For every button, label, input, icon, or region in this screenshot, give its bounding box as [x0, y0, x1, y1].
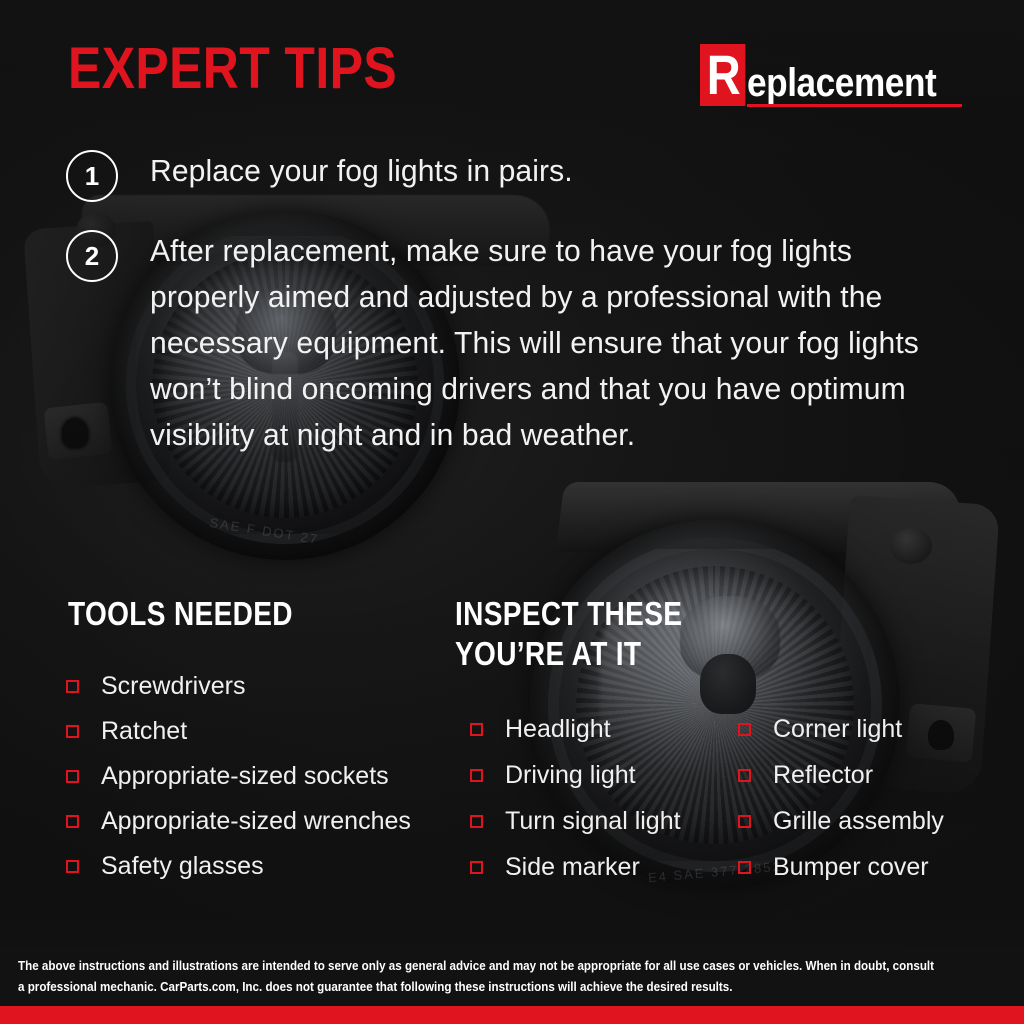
expert-tips-graphic: SAE F DOT 27 E4 SAE 377-2852 EXPERT TIPS… [0, 0, 1024, 1024]
checkbox-square-icon[interactable] [66, 815, 79, 828]
list-item-label: Side marker [505, 855, 640, 880]
brand-logo-initial: R [700, 44, 746, 106]
list-item-label: Safety glasses [101, 854, 264, 879]
list-item: Corner light [738, 706, 944, 752]
footer-disclaimer: The above instructions and illustrations… [18, 956, 937, 998]
tip-number-badge-2: 2 [66, 230, 118, 282]
checkbox-square-icon[interactable] [738, 723, 751, 736]
list-item-label: Appropriate-sized sockets [101, 764, 389, 789]
brand-logo-wordmark-wrap: eplacement [747, 63, 962, 106]
list-item: Screwdrivers [66, 664, 411, 709]
tips-list: 1 Replace your fog lights in pairs. 2 Af… [66, 148, 966, 484]
list-item: Side marker [470, 844, 681, 890]
checkbox-square-icon[interactable] [738, 861, 751, 874]
checkbox-square-icon[interactable] [66, 770, 79, 783]
list-item: Grille assembly [738, 798, 944, 844]
list-item-label: Bumper cover [773, 855, 929, 880]
list-item: Bumper cover [738, 844, 944, 890]
inspect-these-heading: INSPECT THESE YOU’RE AT IT [455, 594, 682, 674]
tip-number-badge-1: 1 [66, 150, 118, 202]
list-item: Appropriate-sized sockets [66, 754, 411, 799]
checkbox-square-icon[interactable] [738, 815, 751, 828]
brand-logo-wordmark: eplacement [747, 63, 936, 103]
list-item-label: Driving light [505, 763, 636, 788]
brand-logo-underline [747, 104, 962, 107]
inspect-list-column-left: Headlight Driving light Turn signal ligh… [470, 706, 681, 890]
inspect-list-column-right: Corner light Reflector Grille assembly B… [738, 706, 944, 890]
tools-needed-list: Screwdrivers Ratchet Appropriate-sized s… [66, 664, 411, 889]
list-item-label: Ratchet [101, 719, 187, 744]
list-item-label: Grille assembly [773, 809, 944, 834]
bottom-accent-stripe [0, 1006, 1024, 1024]
list-item-label: Turn signal light [505, 809, 681, 834]
tip-item-2: 2 After replacement, make sure to have y… [66, 228, 966, 458]
list-item-label: Reflector [773, 763, 873, 788]
list-item: Driving light [470, 752, 681, 798]
list-item: Turn signal light [470, 798, 681, 844]
checkbox-square-icon[interactable] [470, 769, 483, 782]
tip-item-1: 1 Replace your fog lights in pairs. [66, 148, 966, 202]
list-item-label: Corner light [773, 717, 902, 742]
checkbox-square-icon[interactable] [470, 815, 483, 828]
checkbox-square-icon[interactable] [470, 861, 483, 874]
list-item-label: Headlight [505, 717, 611, 742]
tip-text-1: Replace your fog lights in pairs. [150, 148, 573, 194]
content-layer: EXPERT TIPS R eplacement 1 Replace your … [0, 0, 1024, 1024]
tip-text-2: After replacement, make sure to have you… [150, 228, 942, 458]
page-title: EXPERT TIPS [68, 40, 397, 98]
checkbox-square-icon[interactable] [66, 725, 79, 738]
checkbox-square-icon[interactable] [470, 723, 483, 736]
list-item: Reflector [738, 752, 944, 798]
list-item: Safety glasses [66, 844, 411, 889]
list-item-label: Appropriate-sized wrenches [101, 809, 411, 834]
checkbox-square-icon[interactable] [738, 769, 751, 782]
list-item: Appropriate-sized wrenches [66, 799, 411, 844]
list-item: Ratchet [66, 709, 411, 754]
list-item-label: Screwdrivers [101, 674, 245, 699]
brand-logo: R eplacement [700, 44, 962, 106]
tools-needed-heading: TOOLS NEEDED [68, 594, 293, 634]
checkbox-square-icon[interactable] [66, 680, 79, 693]
list-item: Headlight [470, 706, 681, 752]
checkbox-square-icon[interactable] [66, 860, 79, 873]
